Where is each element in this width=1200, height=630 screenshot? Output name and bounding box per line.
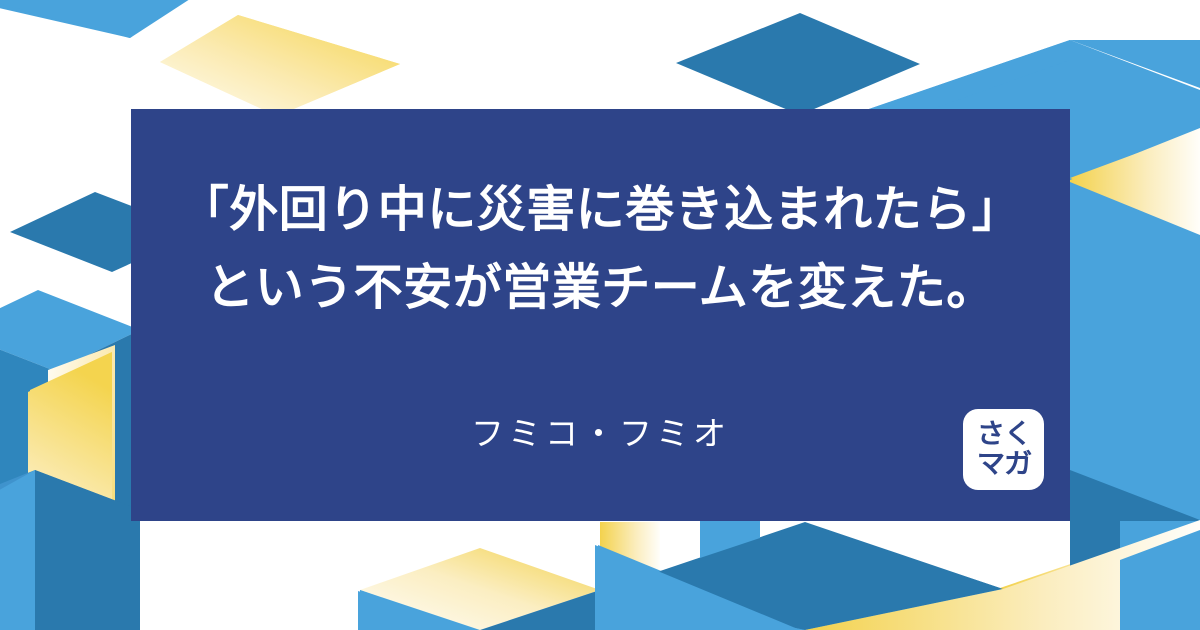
author-name: フミコ・フミオ: [131, 407, 1070, 455]
title-line-2: という不安が営業チームを変えた。: [131, 249, 1070, 327]
sakumaga-logo[interactable]: さく マガ: [963, 409, 1044, 490]
title-line-1: 「外回り中に災害に巻き込まれたら」: [131, 171, 1070, 249]
card-title: 「外回り中に災害に巻き込まれたら」 という不安が営業チームを変えた。: [131, 171, 1070, 327]
logo-line-1: さく: [976, 420, 1031, 450]
shape-bottom-strip-blue-a: [0, 521, 8, 630]
og-image-canvas: 「外回り中に災害に巻き込まれたら」 という不安が営業チームを変えた。 フミコ・フ…: [0, 0, 1200, 630]
logo-line-2: マガ: [976, 450, 1031, 480]
quote-card: 「外回り中に災害に巻き込まれたら」 という不安が営業チームを変えた。 フミコ・フ…: [131, 109, 1070, 521]
